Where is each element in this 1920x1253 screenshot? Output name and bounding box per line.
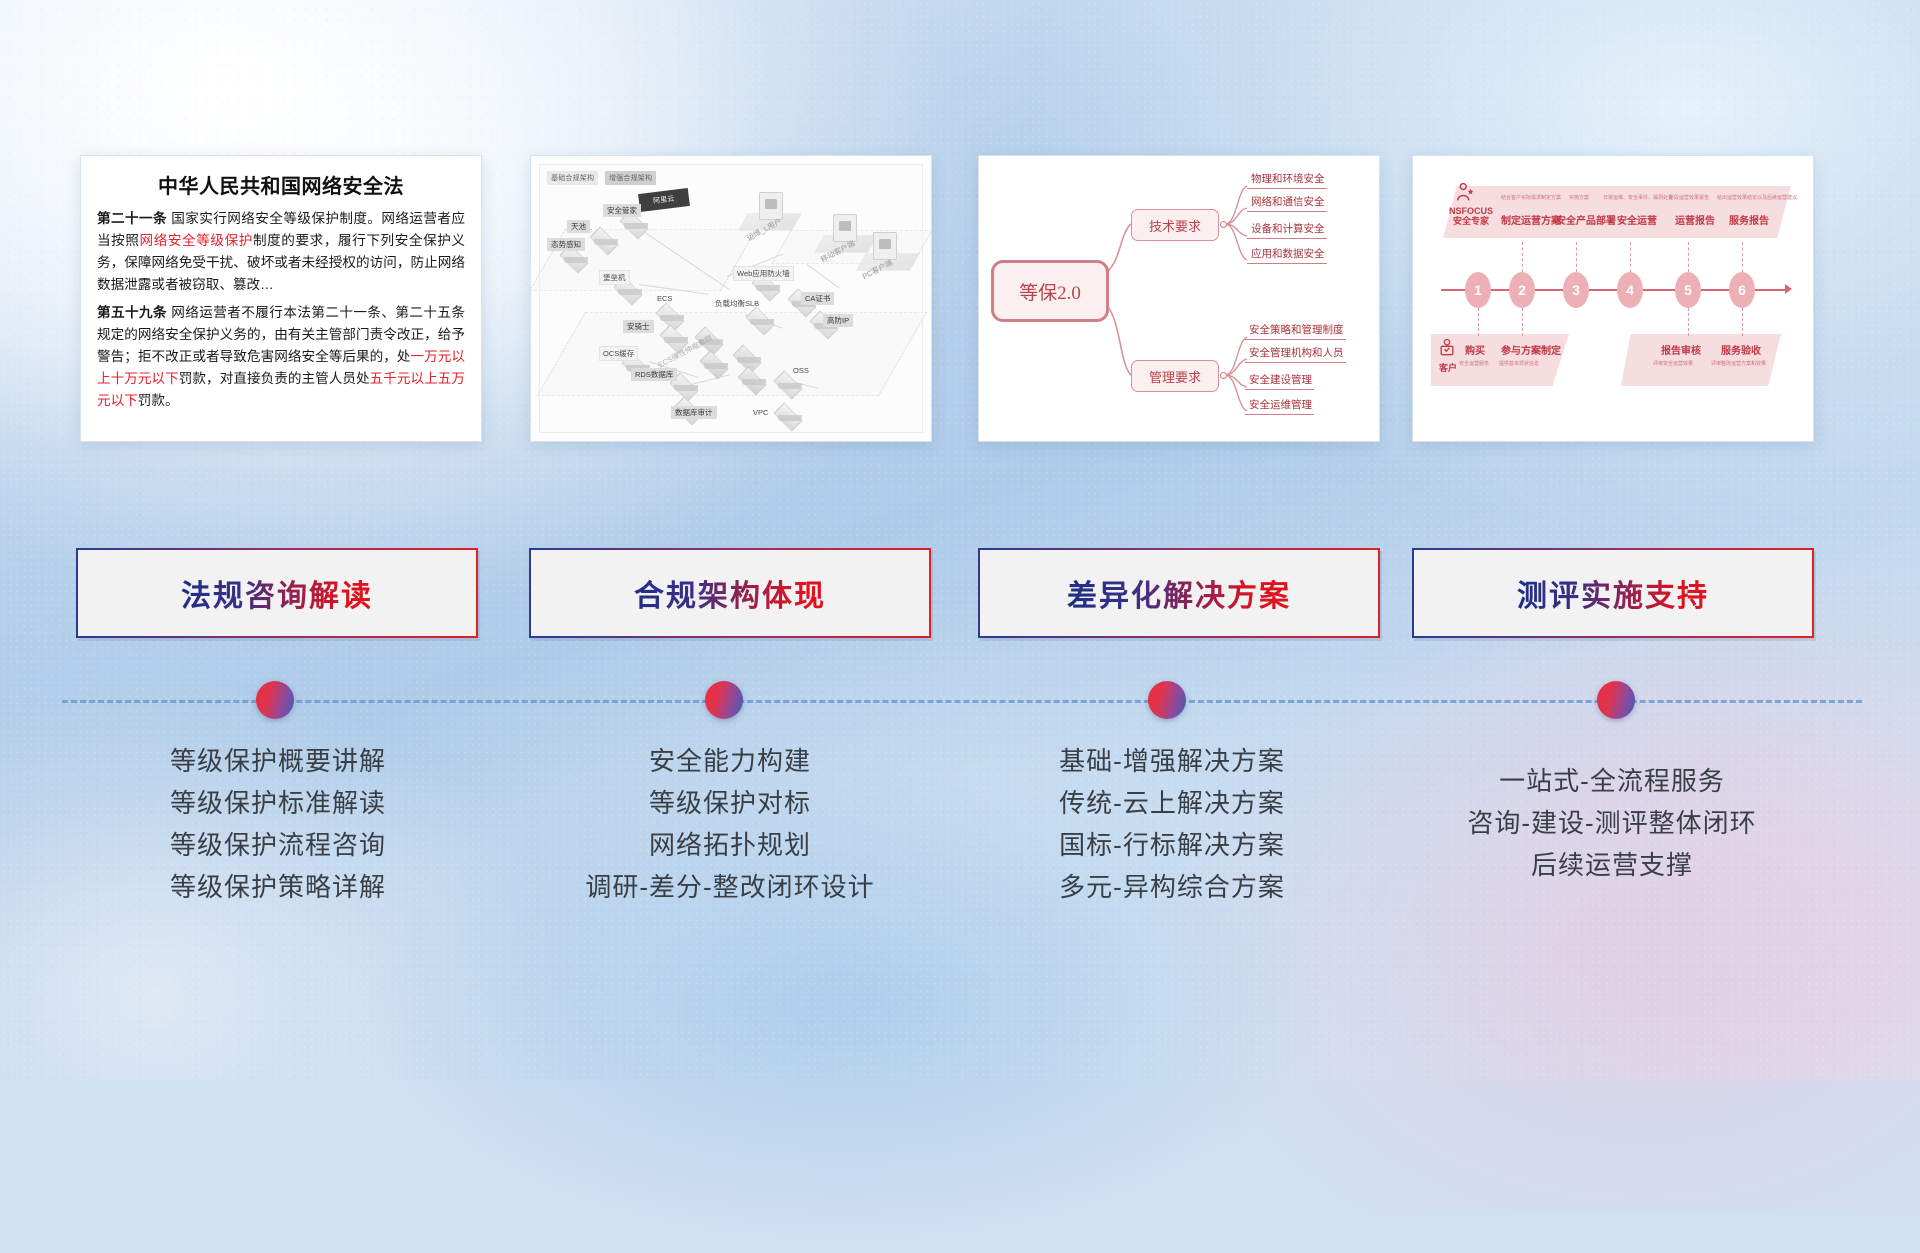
timeline-customer-sub: 提供基本现状信息 <box>1499 360 1539 367</box>
bullet-list-3: 基础-增强解决方案 传统-云上解决方案 国标-行标解决方案 多元-异构综合方案 <box>962 740 1382 908</box>
arch-client-monitor <box>759 192 783 220</box>
law-article-label-21: 第二十一条 <box>97 211 167 226</box>
mindmap-diagram: 等保2.0 技术要求 物理和环境安全 网络和通信安全 设备和计算安全 应用和数据… <box>979 156 1379 441</box>
timeline-expert-line2: 安全专家 <box>1443 216 1499 226</box>
law-paragraph-21: 第二十一条 国家实行网络安全等级保护制度。网络运营者应当按照网络安全等级保护制度… <box>97 208 465 296</box>
slide-stage: 中华人民共和国网络安全法 第二十一条 国家实行网络安全等级保护制度。网络运营者应… <box>0 0 1920 1080</box>
timeline-customer-role: 客户 <box>1435 361 1461 374</box>
timeline-step-label: 安全运营 <box>1617 212 1657 227</box>
arch-node-label: VPC <box>753 408 768 417</box>
title-label-1: 法规咨询解读 <box>181 571 373 615</box>
arch-node <box>701 352 731 374</box>
arch-node-label: 负载均衡SLB <box>715 298 759 309</box>
list-item: 调研-差分-整改闭环设计 <box>520 866 940 908</box>
timeline-connector <box>1742 242 1743 272</box>
timeline-step-sub: 给出运营效果结论以及后续运营建议 <box>1717 194 1797 201</box>
list-item: 等级保护策略详解 <box>68 866 488 908</box>
arch-node-label: 堡垒机 <box>599 270 630 285</box>
timeline-connector <box>1522 242 1523 272</box>
timeline-marker-1[interactable] <box>256 681 294 719</box>
timeline-customer-sub: 评审整改运营方案和效果 <box>1711 360 1766 367</box>
arch-node <box>775 372 805 394</box>
arch-node-label: 数据库审计 <box>671 406 717 419</box>
mindmap-leaf: 网络和通信安全 <box>1247 197 1327 212</box>
list-item: 多元-异构综合方案 <box>962 866 1382 908</box>
card-cloud-architecture: 基础合规架构 增强合规架构 阿里云 运维_L用户 移动客户端 <box>530 155 932 442</box>
timeline-step-sub: 日常运维、安全事件、漏洞处置 <box>1603 194 1673 201</box>
law-document-body: 中华人民共和国网络安全法 第二十一条 国家实行网络安全等级保护制度。网络运营者应… <box>81 156 481 441</box>
timeline-step-label: 运营报告 <box>1675 212 1715 227</box>
timeline-dashed-line <box>62 700 1862 703</box>
law-article-label-59: 第五十九条 <box>97 305 167 320</box>
arch-node-label: 安骑士 <box>623 320 654 333</box>
mindmap-collapse-dot[interactable] <box>1220 372 1227 379</box>
arch-node-label: OCS缓存 <box>599 346 638 361</box>
arch-node <box>734 346 764 368</box>
timeline-node-2[interactable]: 2 <box>1509 272 1535 308</box>
law-run-highlight: 网络安全等级保护 <box>140 233 253 248</box>
title-label-4: 测评实施支持 <box>1517 571 1709 615</box>
title-box-2[interactable]: 合规架构体现 <box>529 548 931 638</box>
timeline-customer-sub: 评审安全运营效果 <box>1653 360 1693 367</box>
mindmap-leaf: 物理和环境安全 <box>1247 174 1327 189</box>
timeline-node-3[interactable]: 3 <box>1563 272 1589 308</box>
timeline-step-sub: 结合客户实际需求制定方案 <box>1501 194 1561 201</box>
mindmap-root: 等保2.0 <box>991 260 1109 322</box>
arch-node-label: 高防IP <box>823 314 853 327</box>
timeline-expert-role: NSFOCUS 安全专家 <box>1443 206 1499 227</box>
mindmap-branch-technical: 技术要求 <box>1131 209 1219 241</box>
mindmap-leaf: 应用和数据安全 <box>1247 249 1327 264</box>
arch-node-label: RDS数据库 <box>631 368 677 381</box>
timeline-marker-2[interactable] <box>705 681 743 719</box>
law-paragraph-59: 第五十九条 网络运营者不履行本法第二十一条、第二十五条规定的网络安全保护义务的，… <box>97 302 465 412</box>
list-item: 国标-行标解决方案 <box>962 824 1382 866</box>
arch-node-label: 天池 <box>567 220 590 233</box>
arch-node <box>747 308 777 330</box>
timeline-customer-label: 服务验收 <box>1721 342 1761 357</box>
timeline-connector <box>1522 308 1523 336</box>
timeline-connector <box>1688 242 1689 272</box>
arch-node-label: ECS <box>657 294 672 303</box>
mindmap-leaf: 安全运维管理 <box>1245 400 1314 415</box>
timeline-marker-4[interactable] <box>1597 681 1635 719</box>
timeline-node-5[interactable]: 5 <box>1675 272 1701 308</box>
arch-client-monitor <box>833 214 857 242</box>
architecture-diagram: 基础合规架构 增强合规架构 阿里云 运维_L用户 移动客户端 <box>531 156 931 441</box>
security-expert-icon <box>1455 182 1477 204</box>
timeline-marker-3[interactable] <box>1148 681 1186 719</box>
timeline-node-6[interactable]: 6 <box>1729 272 1755 308</box>
arch-node-label: OSS <box>793 366 809 375</box>
timeline-expert-line1: NSFOCUS <box>1443 206 1499 216</box>
list-item: 等级保护概要讲解 <box>68 740 488 782</box>
arch-tab-enhanced: 增强合规架构 <box>605 171 656 185</box>
bullet-list-1: 等级保护概要讲解 等级保护标准解读 等级保护流程咨询 等级保护策略详解 <box>68 740 488 908</box>
service-timeline-diagram: NSFOCUS 安全专家 1 2 3 4 5 6 结合客户实际需求制 <box>1413 156 1813 441</box>
law-title: 中华人民共和国网络安全法 <box>97 170 465 199</box>
arch-node-label: Web应用防火墙 <box>733 266 794 281</box>
list-item: 等级保护流程咨询 <box>68 824 488 866</box>
list-item: 一站式-全流程服务 <box>1402 760 1822 802</box>
arch-node-label: 安全管家 <box>603 204 641 217</box>
mindmap-branch-management: 管理要求 <box>1131 360 1219 392</box>
timeline-connector <box>1478 308 1479 336</box>
mindmap-leaf: 安全建设管理 <box>1245 375 1314 390</box>
arch-tab-basic: 基础合规架构 <box>547 171 598 185</box>
timeline-step-label: 安全产品部署 <box>1556 212 1616 227</box>
timeline-customer-sub: 安全运营服务 <box>1459 360 1489 367</box>
timeline-connector <box>1576 242 1577 272</box>
timeline-customer-label: 参与方案制定 <box>1501 342 1561 357</box>
list-item: 网络拓扑规划 <box>520 824 940 866</box>
bullet-list-2: 安全能力构建 等级保护对标 网络拓扑规划 调研-差分-整改闭环设计 <box>520 740 940 908</box>
title-box-1[interactable]: 法规咨询解读 <box>76 548 478 638</box>
list-item: 咨询-建设-测评整体闭环 <box>1402 802 1822 844</box>
timeline-step-sub: 阶段运营效果报告 <box>1669 194 1709 201</box>
timeline-customer-label: 购买 <box>1465 342 1485 357</box>
arch-node <box>591 228 621 250</box>
arch-node <box>739 368 769 390</box>
law-run: 罚款。 <box>138 393 179 408</box>
timeline-step-label: 制定运营方案 <box>1501 212 1561 227</box>
list-item: 等级保护对标 <box>520 782 940 824</box>
mindmap-leaf: 安全管理机构和人员 <box>1245 348 1346 363</box>
timeline-arrow-icon <box>1785 284 1792 294</box>
arch-node <box>775 404 805 426</box>
timeline-step-label: 服务报告 <box>1729 212 1769 227</box>
title-label-2: 合规架构体现 <box>634 571 826 615</box>
card-service-timeline: NSFOCUS 安全专家 1 2 3 4 5 6 结合客户实际需求制 <box>1412 155 1814 442</box>
arch-node <box>657 304 687 326</box>
list-item: 安全能力构建 <box>520 740 940 782</box>
law-run: 罚款，对直接负责的主管人员处 <box>179 371 370 386</box>
timeline-node-1[interactable]: 1 <box>1465 272 1491 308</box>
mindmap-collapse-dot[interactable] <box>1220 221 1227 228</box>
title-box-3[interactable]: 差异化解决方案 <box>978 548 1380 638</box>
customer-icon <box>1437 338 1457 358</box>
title-box-4[interactable]: 测评实施支持 <box>1412 548 1814 638</box>
arch-client-monitor <box>873 232 897 260</box>
list-item: 基础-增强解决方案 <box>962 740 1382 782</box>
mindmap-leaf: 设备和计算安全 <box>1247 224 1327 239</box>
timeline-connector <box>1742 308 1743 336</box>
list-item: 传统-云上解决方案 <box>962 782 1382 824</box>
list-item: 后续运营支撑 <box>1402 844 1822 886</box>
arch-node-label: 态势感知 <box>547 238 585 251</box>
timeline-customer-label: 报告审核 <box>1661 342 1701 357</box>
card-law-document: 中华人民共和国网络安全法 第二十一条 国家实行网络安全等级保护制度。网络运营者应… <box>80 155 482 442</box>
arch-node-label: CA证书 <box>801 292 834 305</box>
card-mind-map: 等保2.0 技术要求 物理和环境安全 网络和通信安全 设备和计算安全 应用和数据… <box>978 155 1380 442</box>
bullet-list-4: 一站式-全流程服务 咨询-建设-测评整体闭环 后续运营支撑 <box>1402 760 1822 886</box>
timeline-connector <box>1688 308 1689 336</box>
timeline-connector <box>1630 242 1631 272</box>
list-item: 等级保护标准解读 <box>68 782 488 824</box>
timeline-step-sub: 实施方案 <box>1569 194 1589 201</box>
mindmap-leaf: 安全策略和管理制度 <box>1245 325 1346 340</box>
title-label-3: 差异化解决方案 <box>1067 571 1291 615</box>
timeline-node-4[interactable]: 4 <box>1617 272 1643 308</box>
